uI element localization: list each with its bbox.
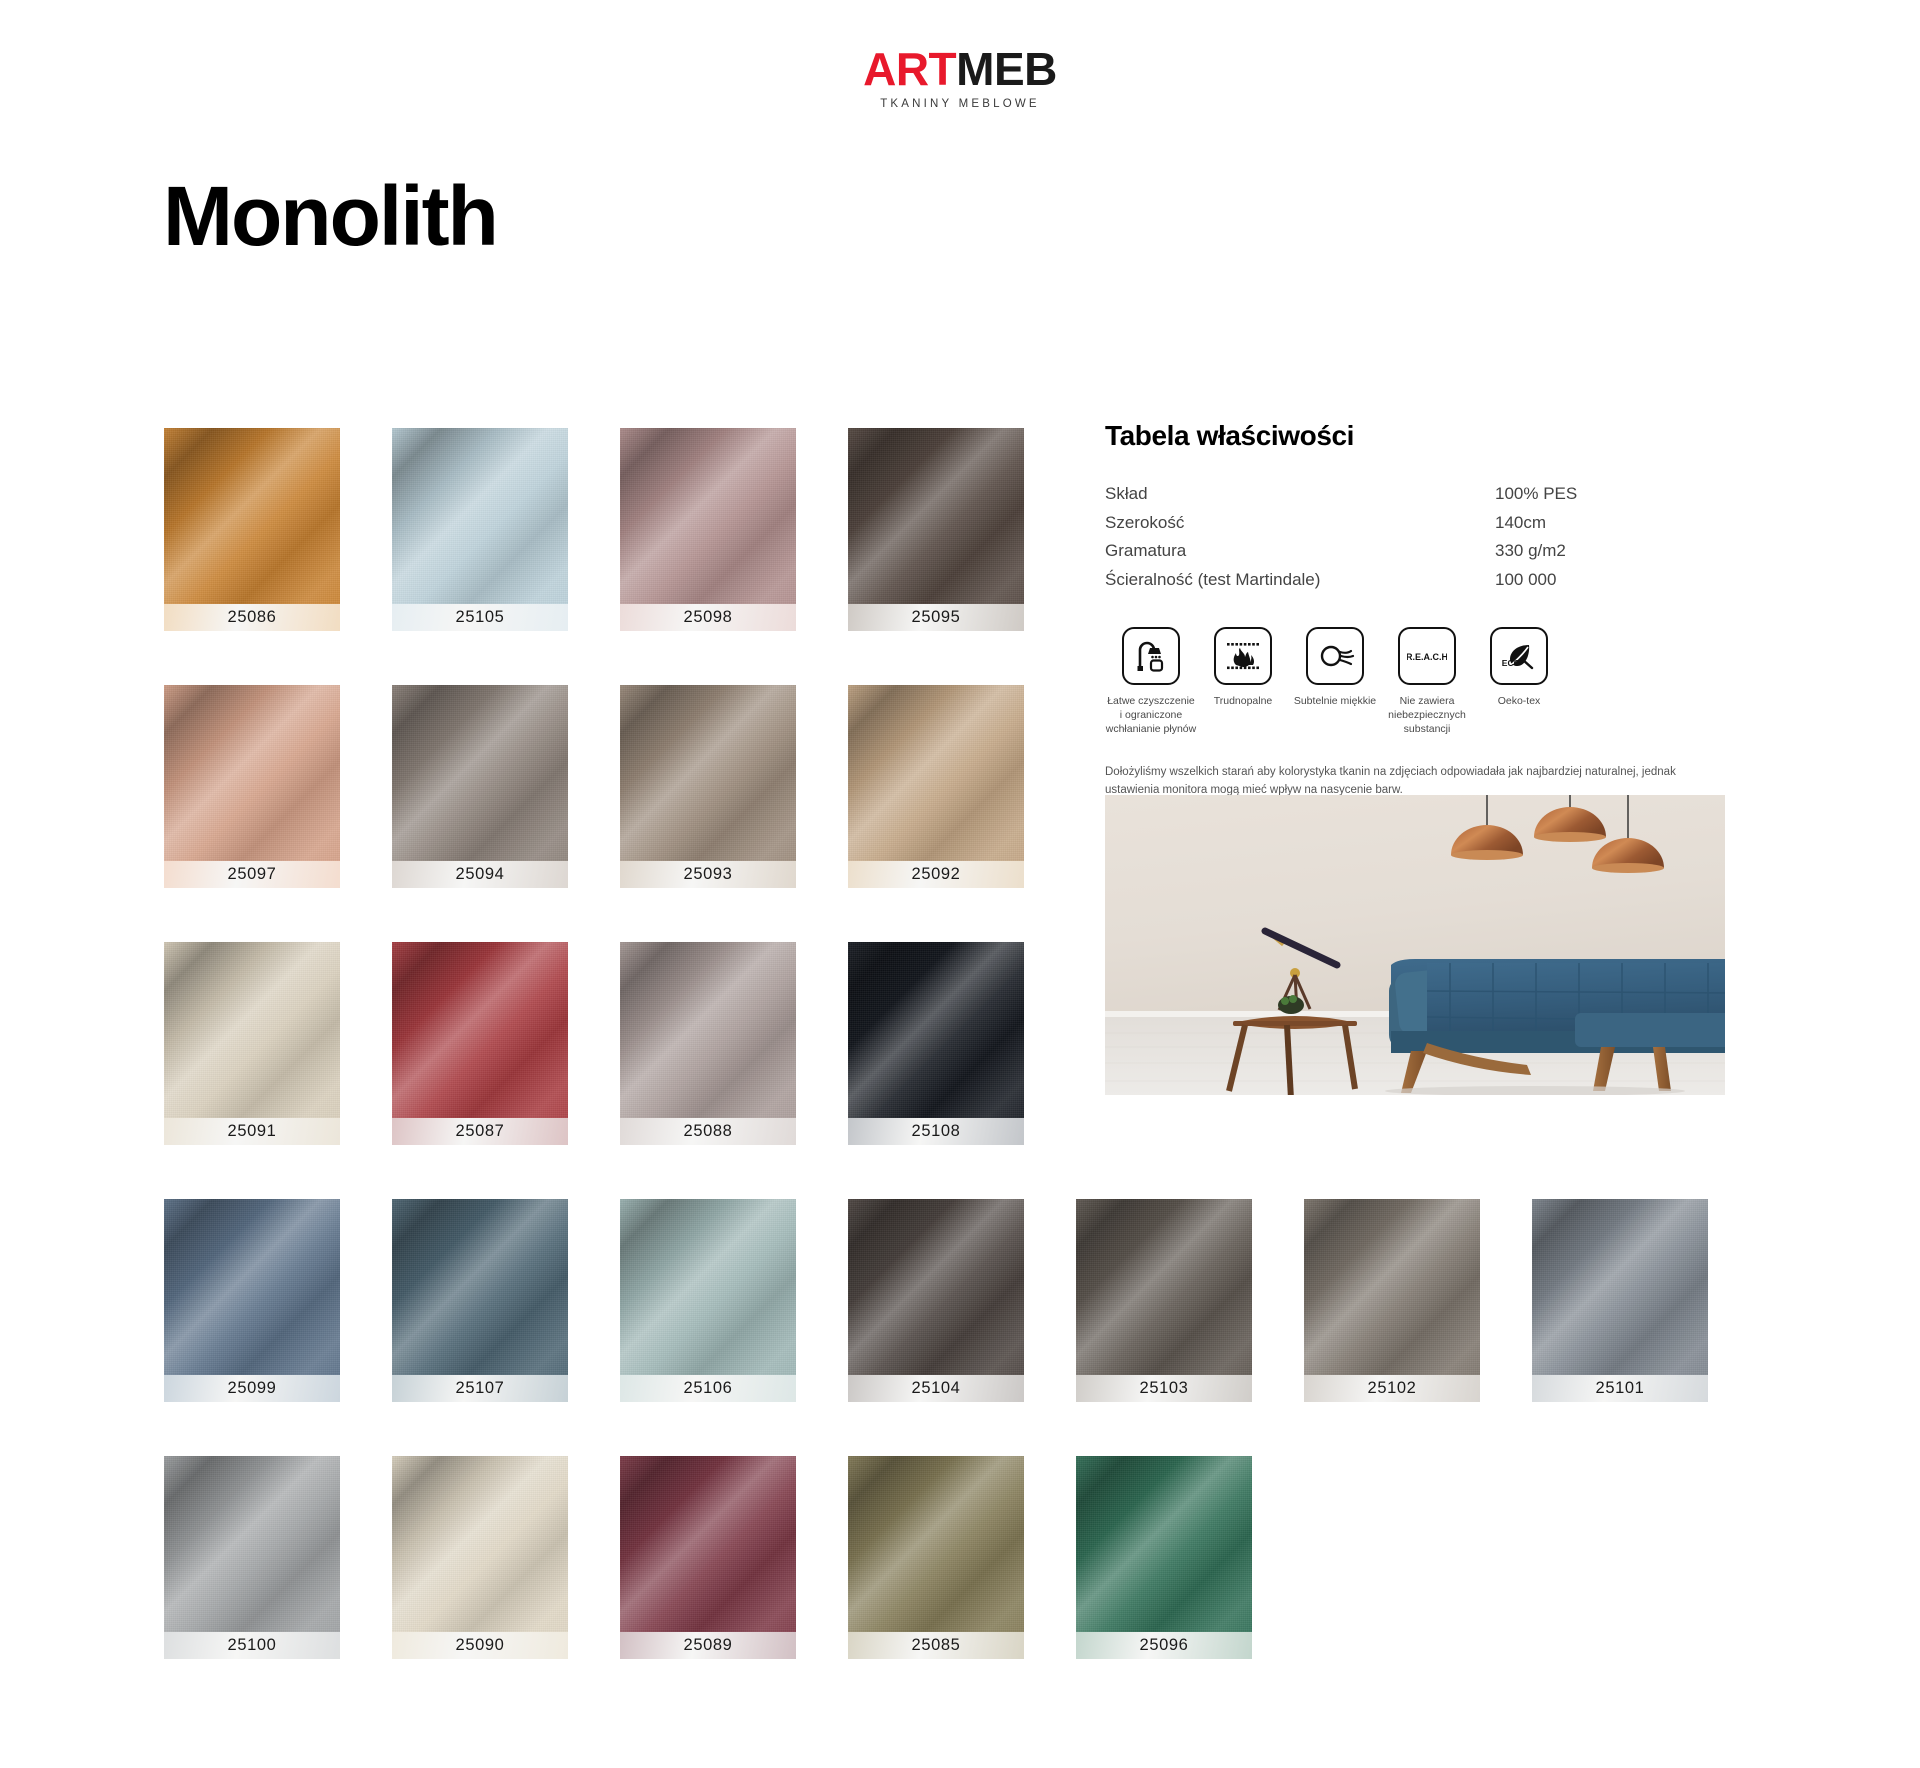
swatch-code: 25102 bbox=[1368, 1379, 1417, 1397]
swatch-weave-texture bbox=[164, 685, 340, 861]
properties-heading: Tabela właściwości bbox=[1105, 420, 1725, 452]
swatch-code: 25088 bbox=[684, 1122, 733, 1140]
swatch-weave-texture bbox=[620, 1199, 796, 1375]
swatch-tile[interactable]: 25108 bbox=[848, 942, 1024, 1145]
swatch-weave-texture bbox=[848, 942, 1024, 1118]
swatch-label: 25104 bbox=[848, 1375, 1024, 1402]
swatch-label: 25106 bbox=[620, 1375, 796, 1402]
swatch-code: 25098 bbox=[684, 608, 733, 626]
swatch-weave-texture bbox=[1532, 1199, 1708, 1375]
swatch-label: 25103 bbox=[1076, 1375, 1252, 1402]
swatch-tile[interactable]: 25104 bbox=[848, 1199, 1024, 1402]
swatch-label: 25090 bbox=[392, 1632, 568, 1659]
swatch-code: 25097 bbox=[228, 865, 277, 883]
swatch-label: 25102 bbox=[1304, 1375, 1480, 1402]
swatch-label: 25105 bbox=[392, 604, 568, 631]
svg-text:R.E.A.C.H: R.E.A.C.H bbox=[1407, 652, 1447, 662]
property-value: 140cm bbox=[1495, 509, 1725, 538]
swatch-color-image bbox=[392, 1199, 568, 1375]
property-value: 100 000 bbox=[1495, 566, 1725, 595]
certification-item: Subtelnie miękkie bbox=[1289, 627, 1381, 737]
swatch-label: 25094 bbox=[392, 861, 568, 888]
swatch-color-image bbox=[164, 1456, 340, 1632]
swatch-code: 25107 bbox=[456, 1379, 505, 1397]
swatch-code: 25099 bbox=[228, 1379, 277, 1397]
certification-icon-box: ECO bbox=[1490, 627, 1548, 685]
swatch-code: 25108 bbox=[912, 1122, 961, 1140]
swatch-weave-texture bbox=[164, 1199, 340, 1375]
swatch-tile[interactable]: 25097 bbox=[164, 685, 340, 888]
property-row: Ścieralność (test Martindale)100 000 bbox=[1105, 566, 1725, 595]
swatch-label: 25099 bbox=[164, 1375, 340, 1402]
eco-leaf-icon: ECO bbox=[1499, 636, 1539, 676]
swatch-color-image bbox=[848, 942, 1024, 1118]
swatch-tile[interactable]: 25091 bbox=[164, 942, 340, 1145]
certification-icon-box bbox=[1122, 627, 1180, 685]
swatch-tile[interactable]: 25096 bbox=[1076, 1456, 1252, 1659]
swatch-label: 25107 bbox=[392, 1375, 568, 1402]
swatch-weave-texture bbox=[620, 942, 796, 1118]
certification-icon-box bbox=[1306, 627, 1364, 685]
swatch-label: 25088 bbox=[620, 1118, 796, 1145]
easy-clean-icon bbox=[1131, 636, 1171, 676]
swatch-weave-texture bbox=[392, 1199, 568, 1375]
property-label: Szerokość bbox=[1105, 509, 1495, 538]
swatch-tile[interactable]: 25094 bbox=[392, 685, 568, 888]
swatch-code: 25100 bbox=[228, 1636, 277, 1654]
properties-table: Skład100% PESSzerokość140cmGramatura330 … bbox=[1105, 480, 1725, 595]
swatch-label: 25095 bbox=[848, 604, 1024, 631]
swatch-color-image bbox=[620, 428, 796, 604]
swatch-label: 25108 bbox=[848, 1118, 1024, 1145]
swatch-color-image bbox=[1076, 1199, 1252, 1375]
svg-text:ECO: ECO bbox=[1502, 658, 1521, 668]
properties-panel: Tabela właściwości Skład100% PESSzerokoś… bbox=[1105, 420, 1725, 844]
swatch-weave-texture bbox=[848, 685, 1024, 861]
certification-icon-box bbox=[1214, 627, 1272, 685]
swatch-tile[interactable]: 25093 bbox=[620, 685, 796, 888]
swatch-code: 25086 bbox=[228, 608, 277, 626]
swatch-color-image bbox=[392, 685, 568, 861]
certification-caption: Trudnopalne bbox=[1197, 694, 1289, 708]
swatch-code: 25095 bbox=[912, 608, 961, 626]
certification-icon-row: Łatwe czyszczenie i ograniczone wchłania… bbox=[1105, 627, 1725, 737]
property-label: Ścieralność (test Martindale) bbox=[1105, 566, 1495, 595]
swatch-weave-texture bbox=[392, 428, 568, 604]
swatch-weave-texture bbox=[392, 685, 568, 861]
property-value: 330 g/m2 bbox=[1495, 537, 1725, 566]
swatch-label: 25089 bbox=[620, 1632, 796, 1659]
swatch-label: 25086 bbox=[164, 604, 340, 631]
swatch-label: 25096 bbox=[1076, 1632, 1252, 1659]
swatch-tile[interactable]: 25099 bbox=[164, 1199, 340, 1402]
property-row: Skład100% PES bbox=[1105, 480, 1725, 509]
logo-art-text: ART bbox=[863, 43, 956, 95]
swatch-weave-texture bbox=[164, 428, 340, 604]
swatch-label: 25098 bbox=[620, 604, 796, 631]
swatch-code: 25104 bbox=[912, 1379, 961, 1397]
swatch-color-image bbox=[848, 685, 1024, 861]
logo-wordmark: ARTMEB bbox=[863, 46, 1057, 92]
certification-item: Łatwe czyszczenie i ograniczone wchłania… bbox=[1105, 627, 1197, 737]
swatch-color-image bbox=[164, 685, 340, 861]
property-label: Skład bbox=[1105, 480, 1495, 509]
swatch-color-image bbox=[392, 1456, 568, 1632]
certification-caption: Oeko-tex bbox=[1473, 694, 1565, 708]
swatch-code: 25091 bbox=[228, 1122, 277, 1140]
swatch-code: 25094 bbox=[456, 865, 505, 883]
swatch-color-image bbox=[164, 1199, 340, 1375]
swatch-code: 25090 bbox=[456, 1636, 505, 1654]
property-row: Gramatura330 g/m2 bbox=[1105, 537, 1725, 566]
swatch-code: 25096 bbox=[1140, 1636, 1189, 1654]
swatch-tile[interactable]: 25100 bbox=[164, 1456, 340, 1659]
swatch-tile[interactable]: 25095 bbox=[848, 428, 1024, 631]
swatch-color-image bbox=[392, 942, 568, 1118]
swatch-tile[interactable]: 25102 bbox=[1304, 1199, 1480, 1402]
swatch-color-image bbox=[848, 1456, 1024, 1632]
swatch-tile[interactable]: 25090 bbox=[392, 1456, 568, 1659]
logo-meb-text: MEB bbox=[956, 43, 1057, 95]
property-value: 100% PES bbox=[1495, 480, 1725, 509]
swatch-label: 25085 bbox=[848, 1632, 1024, 1659]
swatch-color-image bbox=[848, 428, 1024, 604]
swatch-label: 25097 bbox=[164, 861, 340, 888]
swatch-code: 25085 bbox=[912, 1636, 961, 1654]
certification-caption: Subtelnie miękkie bbox=[1289, 694, 1381, 708]
swatch-color-image bbox=[1532, 1199, 1708, 1375]
swatch-weave-texture bbox=[1076, 1456, 1252, 1632]
swatch-tile[interactable]: 25105 bbox=[392, 428, 568, 631]
swatch-tile[interactable]: 25101 bbox=[1532, 1199, 1708, 1402]
swatch-label: 25093 bbox=[620, 861, 796, 888]
swatch-label: 25092 bbox=[848, 861, 1024, 888]
swatch-color-image bbox=[848, 1199, 1024, 1375]
swatch-label: 25087 bbox=[392, 1118, 568, 1145]
swatch-weave-texture bbox=[848, 1199, 1024, 1375]
swatch-row: 2510025090250892508525096 bbox=[164, 1456, 1920, 1659]
certification-item: R.E.A.C.HNie zawiera niebezpiecznych sub… bbox=[1381, 627, 1473, 737]
interior-photo-illustration bbox=[1105, 795, 1725, 1095]
swatch-tile[interactable]: 25107 bbox=[392, 1199, 568, 1402]
swatch-code: 25105 bbox=[456, 608, 505, 626]
swatch-code: 25089 bbox=[684, 1636, 733, 1654]
swatch-tile[interactable]: 25087 bbox=[392, 942, 568, 1145]
swatch-weave-texture bbox=[392, 942, 568, 1118]
swatch-tile[interactable]: 25085 bbox=[848, 1456, 1024, 1659]
property-row: Szerokość140cm bbox=[1105, 509, 1725, 538]
flame-retardant-icon bbox=[1223, 636, 1263, 676]
swatch-color-image bbox=[620, 1199, 796, 1375]
swatch-tile[interactable]: 25088 bbox=[620, 942, 796, 1145]
swatch-color-image bbox=[164, 942, 340, 1118]
certification-caption: Łatwe czyszczenie i ograniczone wchłania… bbox=[1105, 694, 1197, 737]
swatch-color-image bbox=[164, 428, 340, 604]
swatch-weave-texture bbox=[848, 1456, 1024, 1632]
swatch-color-image bbox=[392, 428, 568, 604]
swatch-weave-texture bbox=[848, 428, 1024, 604]
reach-icon: R.E.A.C.H bbox=[1407, 636, 1447, 676]
swatch-code: 25092 bbox=[912, 865, 961, 883]
swatch-tile[interactable]: 25103 bbox=[1076, 1199, 1252, 1402]
swatch-row: 25099251072510625104251032510225101 bbox=[164, 1199, 1920, 1402]
swatch-weave-texture bbox=[1304, 1199, 1480, 1375]
swatch-weave-texture bbox=[620, 1456, 796, 1632]
interior-photo bbox=[1105, 795, 1725, 1095]
certification-item: ECOOeko-tex bbox=[1473, 627, 1565, 737]
swatch-weave-texture bbox=[164, 942, 340, 1118]
property-label: Gramatura bbox=[1105, 537, 1495, 566]
swatch-color-image bbox=[620, 1456, 796, 1632]
swatch-color-image bbox=[620, 685, 796, 861]
swatch-label: 25101 bbox=[1532, 1375, 1708, 1402]
swatch-label: 25100 bbox=[164, 1632, 340, 1659]
swatch-code: 25101 bbox=[1596, 1379, 1645, 1397]
swatch-weave-texture bbox=[164, 1456, 340, 1632]
logo-tagline: TKANINY MEBLOWE bbox=[0, 99, 1920, 111]
swatch-tile[interactable]: 25086 bbox=[164, 428, 340, 631]
certification-caption: Nie zawiera niebezpiecznych substancji bbox=[1381, 694, 1473, 737]
swatch-weave-texture bbox=[392, 1456, 568, 1632]
swatch-color-image bbox=[1076, 1456, 1252, 1632]
soft-touch-icon bbox=[1315, 636, 1355, 676]
certification-icon-box: R.E.A.C.H bbox=[1398, 627, 1456, 685]
swatch-weave-texture bbox=[620, 685, 796, 861]
swatch-code: 25106 bbox=[684, 1379, 733, 1397]
page-title: Monolith bbox=[163, 174, 497, 258]
swatch-color-image bbox=[620, 942, 796, 1118]
swatch-weave-texture bbox=[620, 428, 796, 604]
swatch-color-image bbox=[1304, 1199, 1480, 1375]
swatch-tile[interactable]: 25098 bbox=[620, 428, 796, 631]
swatch-label: 25091 bbox=[164, 1118, 340, 1145]
brand-logo: ARTMEB TKANINY MEBLOWE bbox=[0, 46, 1920, 111]
swatch-code: 25087 bbox=[456, 1122, 505, 1140]
swatch-code: 25103 bbox=[1140, 1379, 1189, 1397]
swatch-tile[interactable]: 25092 bbox=[848, 685, 1024, 888]
swatch-tile[interactable]: 25089 bbox=[620, 1456, 796, 1659]
swatch-tile[interactable]: 25106 bbox=[620, 1199, 796, 1402]
swatch-code: 25093 bbox=[684, 865, 733, 883]
certification-item: Trudnopalne bbox=[1197, 627, 1289, 737]
swatch-weave-texture bbox=[1076, 1199, 1252, 1375]
